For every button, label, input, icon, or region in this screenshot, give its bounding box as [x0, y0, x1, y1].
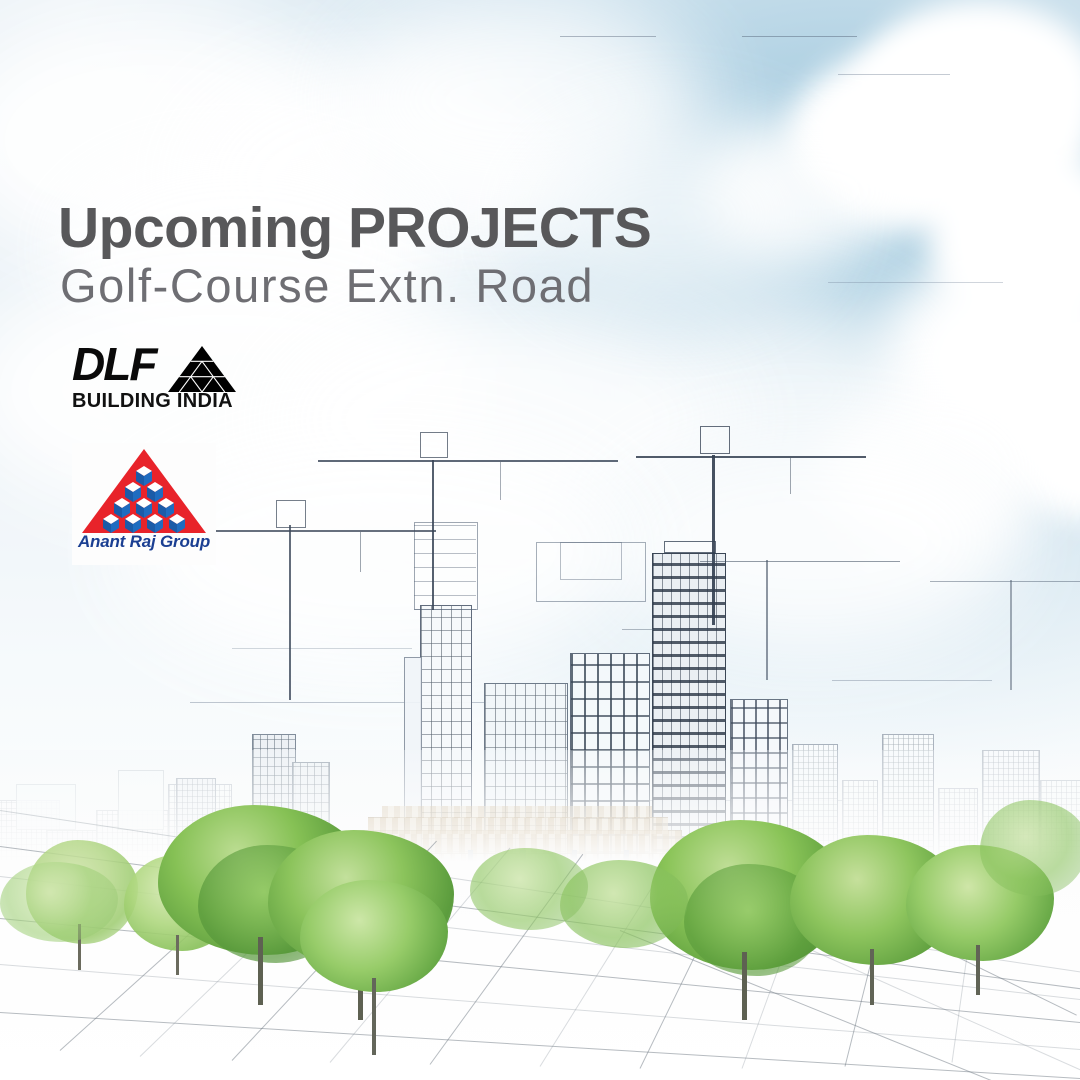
dlf-logo: DLF BUILDING INDIA	[72, 345, 242, 417]
triangle-grid-icon	[168, 346, 236, 392]
red-triangle-blue-cubes-icon	[80, 447, 208, 535]
dlf-wordmark: DLF	[72, 341, 155, 387]
anant-raj-logo: Anant Raj Group	[72, 443, 216, 565]
dlf-tagline: BUILDING INDIA	[72, 391, 233, 411]
promotional-poster: Upcoming PROJECTS Golf-Course Extn. Road…	[0, 0, 1080, 1080]
page-title: Upcoming PROJECTS	[58, 198, 651, 258]
anant-raj-wordmark: Anant Raj Group	[72, 533, 216, 550]
page-subtitle: Golf-Course Extn. Road	[60, 259, 594, 313]
